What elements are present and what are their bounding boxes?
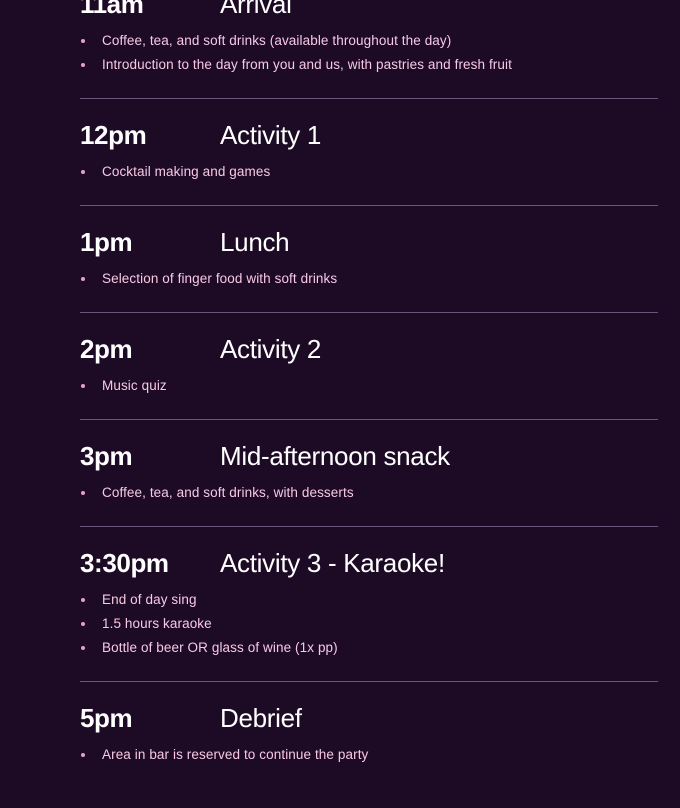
agenda-title: Activity 3 - Karaoke! [220,547,445,579]
agenda-title: Activity 1 [220,119,321,151]
agenda-row-header: 5pmDebrief [80,702,658,734]
agenda-detail-list: Music quiz [80,374,658,398]
agenda-detail-item: 1.5 hours karaoke [80,612,658,636]
agenda-detail-text: End of day sing [102,592,197,607]
agenda-row-header: 3pmMid-afternoon snack [80,440,658,472]
agenda-detail-item: Coffee, tea, and soft drinks (available … [80,29,658,53]
bullet-dot-icon [81,63,85,67]
agenda-row: 12pmActivity 1Cocktail making and games [80,98,658,205]
agenda-row: 1pmLunchSelection of finger food with so… [80,205,658,312]
agenda-row-header: 11amArrival [80,0,658,20]
bullet-dot-icon [81,622,85,626]
agenda-detail-item: Selection of finger food with soft drink… [80,267,658,291]
agenda-title: Activity 2 [220,333,321,365]
agenda-time: 3:30pm [80,547,220,579]
agenda-detail-item: End of day sing [80,588,658,612]
bullet-dot-icon [81,753,85,757]
agenda-detail-item: Area in bar is reserved to continue the … [80,743,658,767]
agenda-row-body: 3pmMid-afternoon snackCoffee, tea, and s… [80,420,658,526]
agenda-title: Lunch [220,226,289,258]
agenda-detail-list: End of day sing1.5 hours karaokeBottle o… [80,588,658,660]
agenda-detail-text: Cocktail making and games [102,164,270,179]
bullet-dot-icon [81,170,85,174]
agenda-detail-text: Introduction to the day from you and us,… [102,57,512,72]
agenda-detail-list: Coffee, tea, and soft drinks, with desse… [80,481,658,505]
agenda-row-body: 1pmLunchSelection of finger food with so… [80,206,658,312]
agenda-detail-list: Cocktail making and games [80,160,658,184]
agenda-row: 2pmActivity 2Music quiz [80,312,658,419]
agenda-row-header: 2pmActivity 2 [80,333,658,365]
agenda-row-header: 1pmLunch [80,226,658,258]
bullet-dot-icon [81,646,85,650]
agenda-row-header: 12pmActivity 1 [80,119,658,151]
agenda-detail-item: Cocktail making and games [80,160,658,184]
agenda-time: 3pm [80,440,220,472]
agenda-detail-item: Music quiz [80,374,658,398]
agenda-schedule: 11amArrivalCoffee, tea, and soft drinks … [0,0,680,796]
agenda-time: 2pm [80,333,220,365]
bullet-dot-icon [81,598,85,602]
agenda-detail-text: Bottle of beer OR glass of wine (1x pp) [102,640,338,655]
bullet-dot-icon [81,39,85,43]
agenda-detail-item: Bottle of beer OR glass of wine (1x pp) [80,636,658,660]
agenda-detail-text: Area in bar is reserved to continue the … [102,747,368,762]
agenda-detail-text: Music quiz [102,378,167,393]
agenda-detail-list: Coffee, tea, and soft drinks (available … [80,29,658,77]
bullet-dot-icon [81,277,85,281]
agenda-title: Mid-afternoon snack [220,440,450,472]
agenda-detail-list: Area in bar is reserved to continue the … [80,743,658,767]
agenda-row: 3pmMid-afternoon snackCoffee, tea, and s… [80,419,658,526]
agenda-detail-list: Selection of finger food with soft drink… [80,267,658,291]
agenda-row-body: 11amArrivalCoffee, tea, and soft drinks … [80,0,658,98]
agenda-row: 11amArrivalCoffee, tea, and soft drinks … [80,0,658,98]
agenda-time: 1pm [80,226,220,258]
agenda-row-header: 3:30pmActivity 3 - Karaoke! [80,547,658,579]
bullet-dot-icon [81,491,85,495]
agenda-title: Arrival [220,0,292,20]
agenda-time: 5pm [80,702,220,734]
agenda-row: 3:30pmActivity 3 - Karaoke!End of day si… [80,526,658,681]
agenda-detail-item: Coffee, tea, and soft drinks, with desse… [80,481,658,505]
agenda-time: 11am [80,0,220,20]
agenda-row-body: 5pmDebriefArea in bar is reserved to con… [80,682,658,788]
agenda-time: 12pm [80,119,220,151]
agenda-row-body: 12pmActivity 1Cocktail making and games [80,99,658,205]
agenda-detail-text: Coffee, tea, and soft drinks, with desse… [102,485,354,500]
agenda-row: 5pmDebriefArea in bar is reserved to con… [80,681,658,788]
agenda-row-body: 3:30pmActivity 3 - Karaoke!End of day si… [80,527,658,681]
agenda-detail-text: 1.5 hours karaoke [102,616,212,631]
agenda-detail-item: Introduction to the day from you and us,… [80,53,658,77]
agenda-detail-text: Coffee, tea, and soft drinks (available … [102,33,451,48]
bullet-dot-icon [81,384,85,388]
agenda-detail-text: Selection of finger food with soft drink… [102,271,337,286]
agenda-title: Debrief [220,702,302,734]
agenda-row-body: 2pmActivity 2Music quiz [80,313,658,419]
